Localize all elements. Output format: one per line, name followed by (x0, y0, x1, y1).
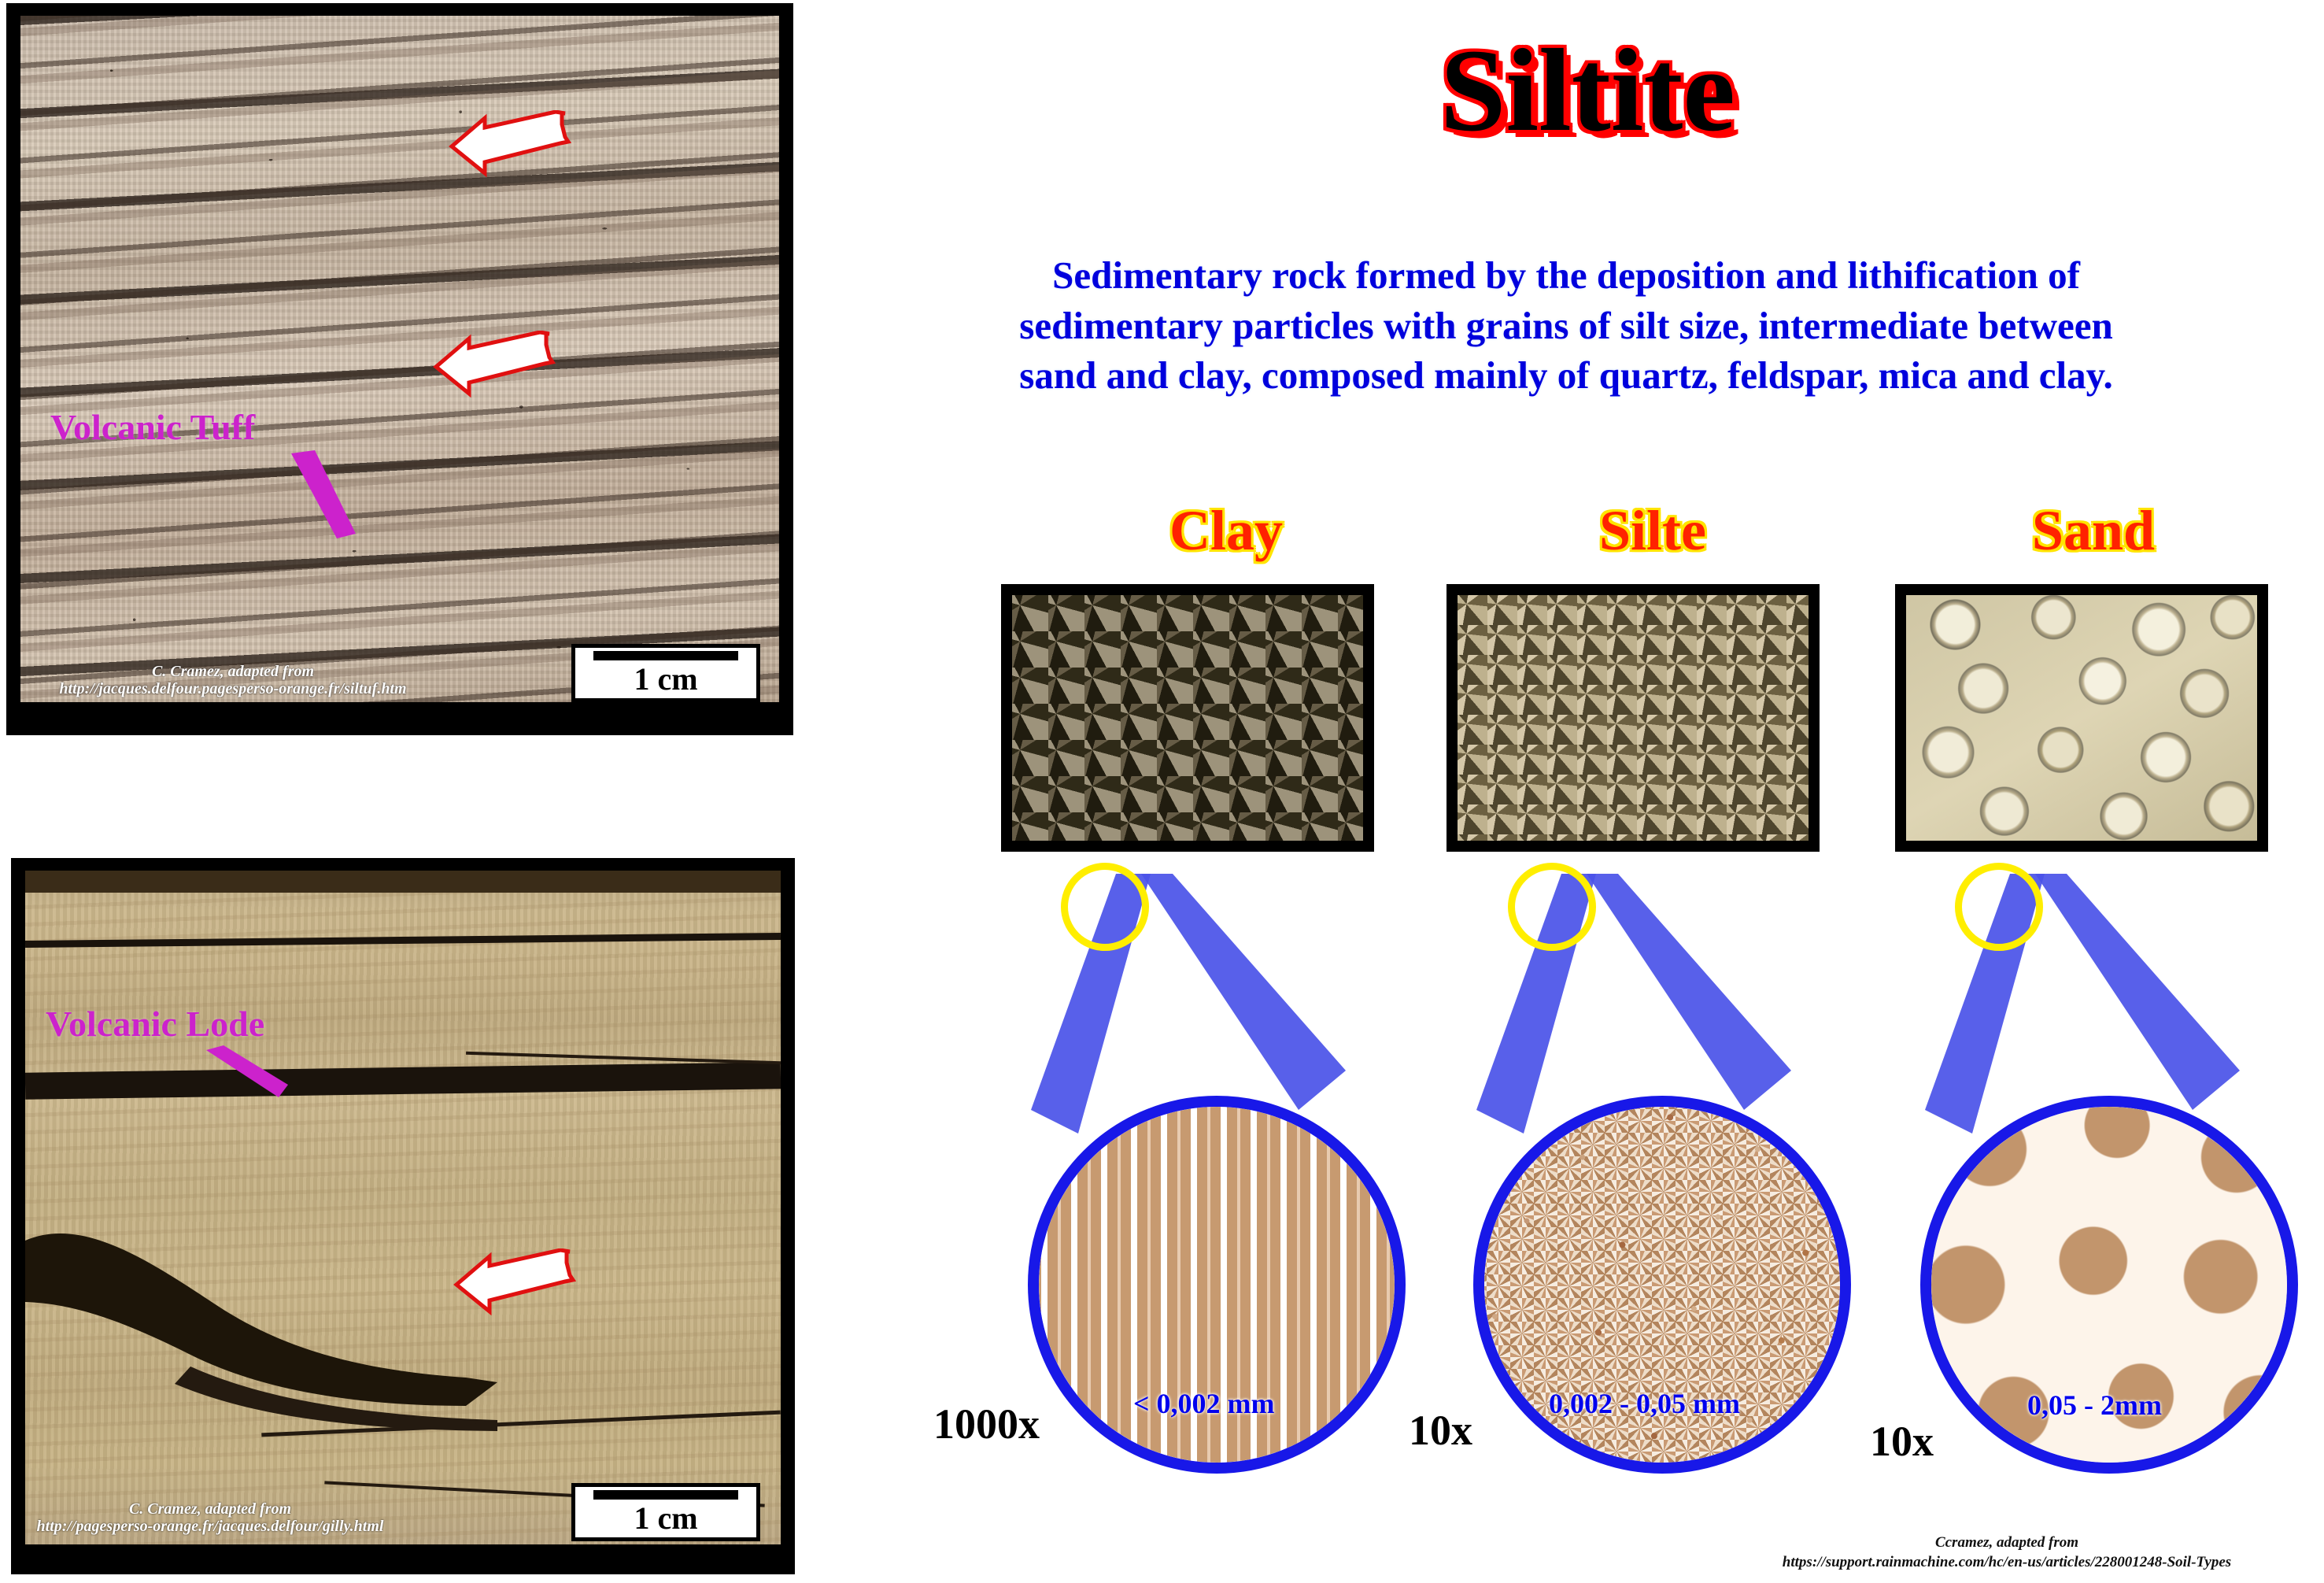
label-volcanic-tuff: Volcanic Tuff (50, 409, 255, 446)
photo-image-volcanic-lode: Volcanic Lode 1 cm C. Cramez, adapted fr… (25, 871, 781, 1544)
scale-bar-box-lode: 1 cm (571, 1483, 760, 1541)
white-arrow-upper (367, 110, 571, 213)
scale-bar-label: 1 cm (634, 664, 697, 695)
description-text: Sedimentary rock formed by the depositio… (1015, 250, 2117, 401)
highlight-ring-sand (1955, 863, 2043, 951)
silte-texture (1458, 595, 1809, 841)
sample-frame-silte (1446, 584, 1820, 852)
scale-bar-line (593, 1490, 738, 1500)
size-label-sand: 0,05 - 2mm (2027, 1389, 2162, 1422)
bottom-credit-line-2: https://support.rainmachine.com/hc/en-us… (1708, 1553, 2306, 1573)
bottom-credit: Ccramez, adapted from https://support.ra… (1708, 1533, 2306, 1572)
photo-frame-volcanic-lode: Volcanic Lode 1 cm C. Cramez, adapted fr… (11, 858, 795, 1574)
bottom-credit-line-1: Ccramez, adapted from (1708, 1533, 2306, 1553)
credit-line-2: http://pagesperso-orange.fr/jacques.delf… (25, 1518, 395, 1535)
credit-line-1: C. Cramez, adapted from (28, 663, 438, 680)
grain-title-clay: Clay (1100, 502, 1352, 559)
sample-frame-sand (1895, 584, 2268, 852)
photo-credit-tuff: C. Cramez, adapted from http://jacques.d… (28, 663, 438, 698)
page-title: Siltite (1440, 31, 1735, 150)
clay-texture (1012, 595, 1363, 841)
white-arrow-lode (371, 1248, 576, 1351)
sand-texture (1906, 595, 2257, 841)
photo-credit-lode: C. Cramez, adapted from http://pagespers… (25, 1500, 395, 1536)
highlight-ring-clay (1061, 863, 1149, 951)
sample-image-clay (1012, 595, 1363, 841)
scale-bar-box-tuff: 1 cm (571, 644, 760, 702)
size-label-clay: < 0,002 mm (1133, 1387, 1275, 1420)
highlight-ring-silte (1508, 863, 1596, 951)
credit-line-1: C. Cramez, adapted from (25, 1500, 395, 1518)
magnification-label-clay: 1000x (933, 1400, 1040, 1448)
sample-image-silte (1458, 595, 1809, 841)
top-dark-rim (25, 871, 781, 893)
sample-frame-clay (1001, 584, 1374, 852)
photo-image-volcanic-tuff: Volcanic Tuff 1 cm C. Cramez, adapted fr… (20, 16, 779, 702)
pointer-line-volcanic-lode (206, 1045, 293, 1100)
grain-title-sand: Sand (1967, 502, 2219, 559)
white-arrow-lower (351, 331, 556, 433)
size-label-silte: 0,002 - 0,05 mm (1549, 1387, 1740, 1420)
pointer-line-volcanic-tuff (288, 450, 375, 545)
magnification-label-silte: 10x (1409, 1406, 1472, 1455)
scale-bar-label: 1 cm (634, 1503, 697, 1534)
sample-image-sand (1906, 595, 2257, 841)
credit-line-2: http://jacques.delfour.pagesperso-orange… (28, 680, 438, 697)
scale-bar-line (593, 651, 738, 660)
photo-frame-volcanic-tuff: Volcanic Tuff 1 cm C. Cramez, adapted fr… (6, 3, 793, 735)
label-volcanic-lode: Volcanic Lode (46, 1006, 264, 1042)
magnification-label-sand: 10x (1870, 1417, 1934, 1466)
grain-title-silte: Silte (1527, 502, 1779, 559)
